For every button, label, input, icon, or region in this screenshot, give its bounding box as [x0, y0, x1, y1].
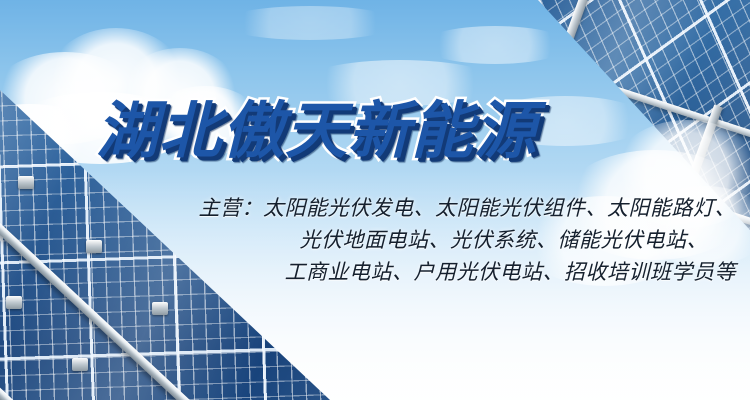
services-description: 主营：太阳能光伏发电、太阳能光伏组件、太阳能路灯、 光伏地面电站、光伏系统、储能… [0, 193, 736, 289]
page-title: 湖北傲天新能源 [96, 101, 537, 163]
solar-company-banner: 湖北傲天新能源 主营：太阳能光伏发电、太阳能光伏组件、太阳能路灯、 光伏地面电站… [0, 0, 750, 400]
panel-clamp [6, 296, 22, 309]
services-line: 光伏地面电站、光伏系统、储能光伏电站、 [0, 225, 736, 257]
panel-clamp [152, 302, 168, 315]
services-line: 工商业电站、户用光伏电站、招收培训班学员等 [0, 257, 736, 289]
panel-clamp [18, 176, 34, 189]
cloud-wisp [420, 26, 570, 64]
services-line: 主营：太阳能光伏发电、太阳能光伏组件、太阳能路灯、 [0, 193, 736, 225]
cloud-wisp [220, 6, 400, 40]
panel-clamp [72, 358, 88, 371]
